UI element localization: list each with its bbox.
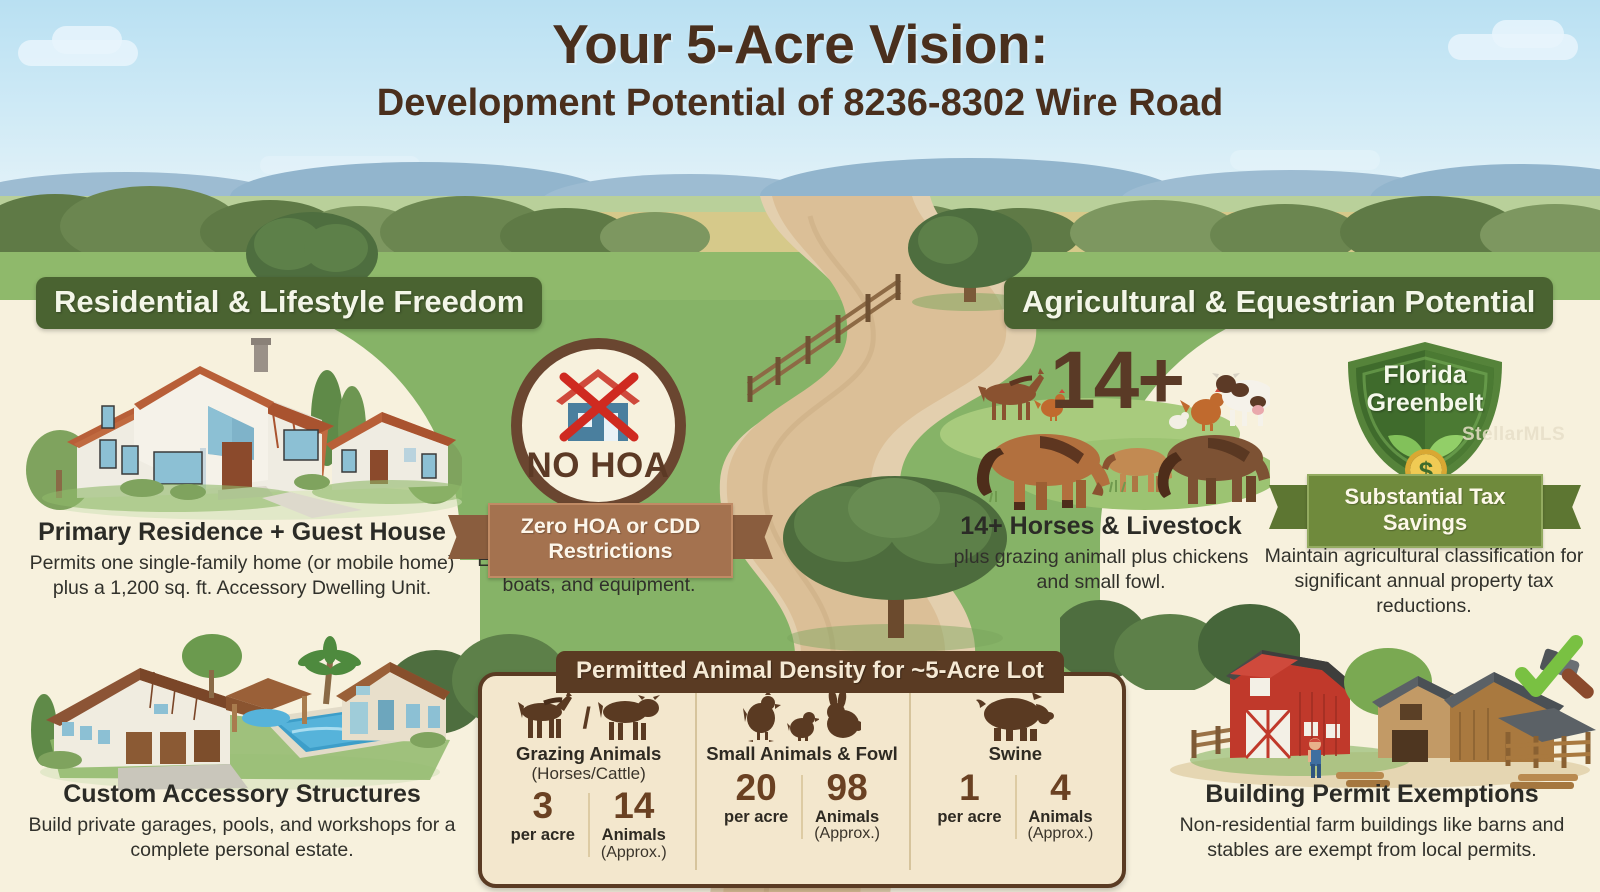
density-column-swine: Swine 1 per acre 4 Animals (Approx.)	[909, 676, 1122, 884]
feature-accessory-structures-body: Build private garages, pools, and worksh…	[20, 813, 464, 863]
swine-per-acre-unit: per acre	[937, 808, 1001, 826]
title-line-2: Development Potential of 8236-8302 Wire …	[0, 84, 1600, 124]
swine-total-unit: Animals	[1028, 808, 1094, 826]
accessory-structures-illustration	[30, 612, 450, 792]
grazing-per-acre-value: 3	[511, 787, 575, 824]
livestock-big-number: 14+	[1050, 334, 1183, 428]
small-total-note: (Approx.)	[814, 826, 880, 843]
density-sublabel-grazing: (Horses/Cattle)	[532, 765, 646, 784]
density-column-grazing: / Grazing Animals (Horses/Cattle) 3	[482, 676, 695, 884]
no-hoa-ribbon: Zero HOA or CDD Restrictions	[488, 503, 733, 578]
density-stat-small-per-acre: 20 per acre	[711, 769, 801, 843]
no-hoa-circle: NO HOA	[511, 338, 686, 513]
density-stat-small-total: 98 Animals (Approx.)	[801, 769, 893, 843]
title-line-1: Your 5-Acre Vision:	[0, 16, 1600, 74]
duck-icon	[787, 706, 819, 742]
barn-and-stable-illustration	[1150, 612, 1600, 792]
small-per-acre-unit: per acre	[724, 808, 788, 826]
cow-icon	[595, 694, 661, 742]
swine-icons	[976, 686, 1054, 742]
feature-primary-residence-body: Permits one single-family home (or mobil…	[14, 551, 470, 601]
density-column-small-animals: Small Animals & Fowl 20 per acre 98 Anim…	[695, 676, 908, 884]
stellarmls-watermark: StellarMLS	[1462, 424, 1565, 446]
feature-primary-residence-heading: Primary Residence + Guest House	[14, 518, 470, 547]
density-label-small-animals: Small Animals & Fowl	[706, 744, 898, 765]
grazing-total-value: 14	[601, 787, 667, 824]
grazing-animal-icons: /	[516, 686, 660, 742]
infographic-canvas: Your 5-Acre Vision: Development Potentia…	[0, 0, 1600, 892]
grazing-total-note: (Approx.)	[601, 845, 667, 862]
swine-total-value: 4	[1028, 769, 1094, 806]
density-stat-grazing-total: 14 Animals (Approx.)	[588, 787, 680, 861]
section-header-agricultural: Agricultural & Equestrian Potential	[1004, 277, 1553, 329]
no-hoa-badge-text: NO HOA	[527, 446, 670, 486]
no-hoa-ribbon-band: Zero HOA or CDD Restrictions	[488, 503, 733, 578]
small-total-value: 98	[814, 769, 880, 806]
greenbelt-ribbon: Substantial Tax Savings	[1307, 474, 1543, 548]
greenbelt-shield-line2: Greenbelt	[1300, 390, 1550, 418]
page-title: Your 5-Acre Vision: Development Potentia…	[0, 16, 1600, 124]
density-label-grazing: Grazing Animals	[516, 744, 661, 765]
small-per-acre-value: 20	[724, 769, 788, 806]
feature-accessory-structures-heading: Custom Accessory Structures	[20, 780, 464, 809]
rabbit-icon	[823, 692, 861, 742]
grazing-total-unit: Animals	[601, 826, 667, 844]
wooden-fence	[740, 272, 910, 402]
no-hoa-badge-group: NO HOA Zero HOA or CDD Restrictions	[488, 338, 708, 578]
greenbelt-shield-line1: Florida	[1300, 362, 1550, 390]
density-panel-title: Permitted Animal Density for ~5-Acre Lot	[576, 657, 1044, 684]
section-header-agricultural-label: Agricultural & Equestrian Potential	[1022, 284, 1535, 319]
density-stats-swine: 1 per acre 4 Animals (Approx.)	[924, 769, 1106, 843]
feature-greenbelt-body: Maintain agricultural classification for…	[1254, 544, 1594, 619]
density-stat-swine-per-acre: 1 per acre	[924, 769, 1014, 843]
density-label-swine: Swine	[989, 744, 1042, 765]
swine-total-note: (Approx.)	[1028, 826, 1094, 843]
chicken-icon	[743, 692, 783, 742]
greenbelt-shield-text: Florida Greenbelt	[1300, 362, 1550, 417]
no-hoa-ribbon-line2: Restrictions	[496, 539, 725, 564]
small-total-unit: Animals	[814, 808, 880, 826]
density-stat-swine-total: 4 Animals (Approx.)	[1015, 769, 1107, 843]
density-stats-small-animals: 20 per acre 98 Animals (Approx.)	[711, 769, 893, 843]
feature-greenbelt: Maintain agricultural classification for…	[1254, 540, 1594, 619]
feature-building-permits: Building Permit Exemptions Non-residenti…	[1152, 780, 1592, 863]
feature-livestock-body: plus grazing animall plus chickens and s…	[944, 545, 1258, 595]
greenbelt-ribbon-line1: Substantial Tax	[1315, 484, 1535, 510]
primary-residence-illustration	[22, 330, 462, 520]
horse-icon	[516, 692, 578, 742]
grazing-per-acre-unit: per acre	[511, 826, 575, 844]
greenbelt-ribbon-line2: Savings	[1315, 510, 1535, 536]
feature-livestock-heading: 14+ Horses & Livestock	[944, 512, 1258, 541]
pig-icon	[976, 692, 1054, 742]
feature-building-permits-body: Non-residential farm buildings like barn…	[1152, 813, 1592, 863]
crossed-out-house-icon	[548, 363, 648, 445]
section-header-residential: Residential & Lifestyle Freedom	[36, 277, 542, 329]
feature-building-permits-heading: Building Permit Exemptions	[1152, 780, 1592, 809]
density-panel: / Grazing Animals (Horses/Cattle) 3	[478, 672, 1126, 888]
feature-accessory-structures: Custom Accessory Structures Build privat…	[20, 780, 464, 863]
slash-separator: /	[582, 702, 590, 742]
greenbelt-ribbon-band: Substantial Tax Savings	[1307, 474, 1543, 548]
density-panel-title-tab: Permitted Animal Density for ~5-Acre Lot	[556, 651, 1064, 693]
no-hoa-ribbon-line1: Zero HOA or CDD	[496, 514, 725, 539]
swine-per-acre-value: 1	[937, 769, 1001, 806]
section-header-residential-label: Residential & Lifestyle Freedom	[54, 284, 524, 319]
density-stat-grazing-per-acre: 3 per acre	[498, 787, 588, 861]
feature-livestock: 14+ Horses & Livestock plus grazing anim…	[944, 512, 1258, 595]
feature-primary-residence: Primary Residence + Guest House Permits …	[14, 518, 470, 601]
small-animal-icons	[743, 686, 861, 742]
density-stats-grazing: 3 per acre 14 Animals (Approx.)	[498, 787, 680, 861]
